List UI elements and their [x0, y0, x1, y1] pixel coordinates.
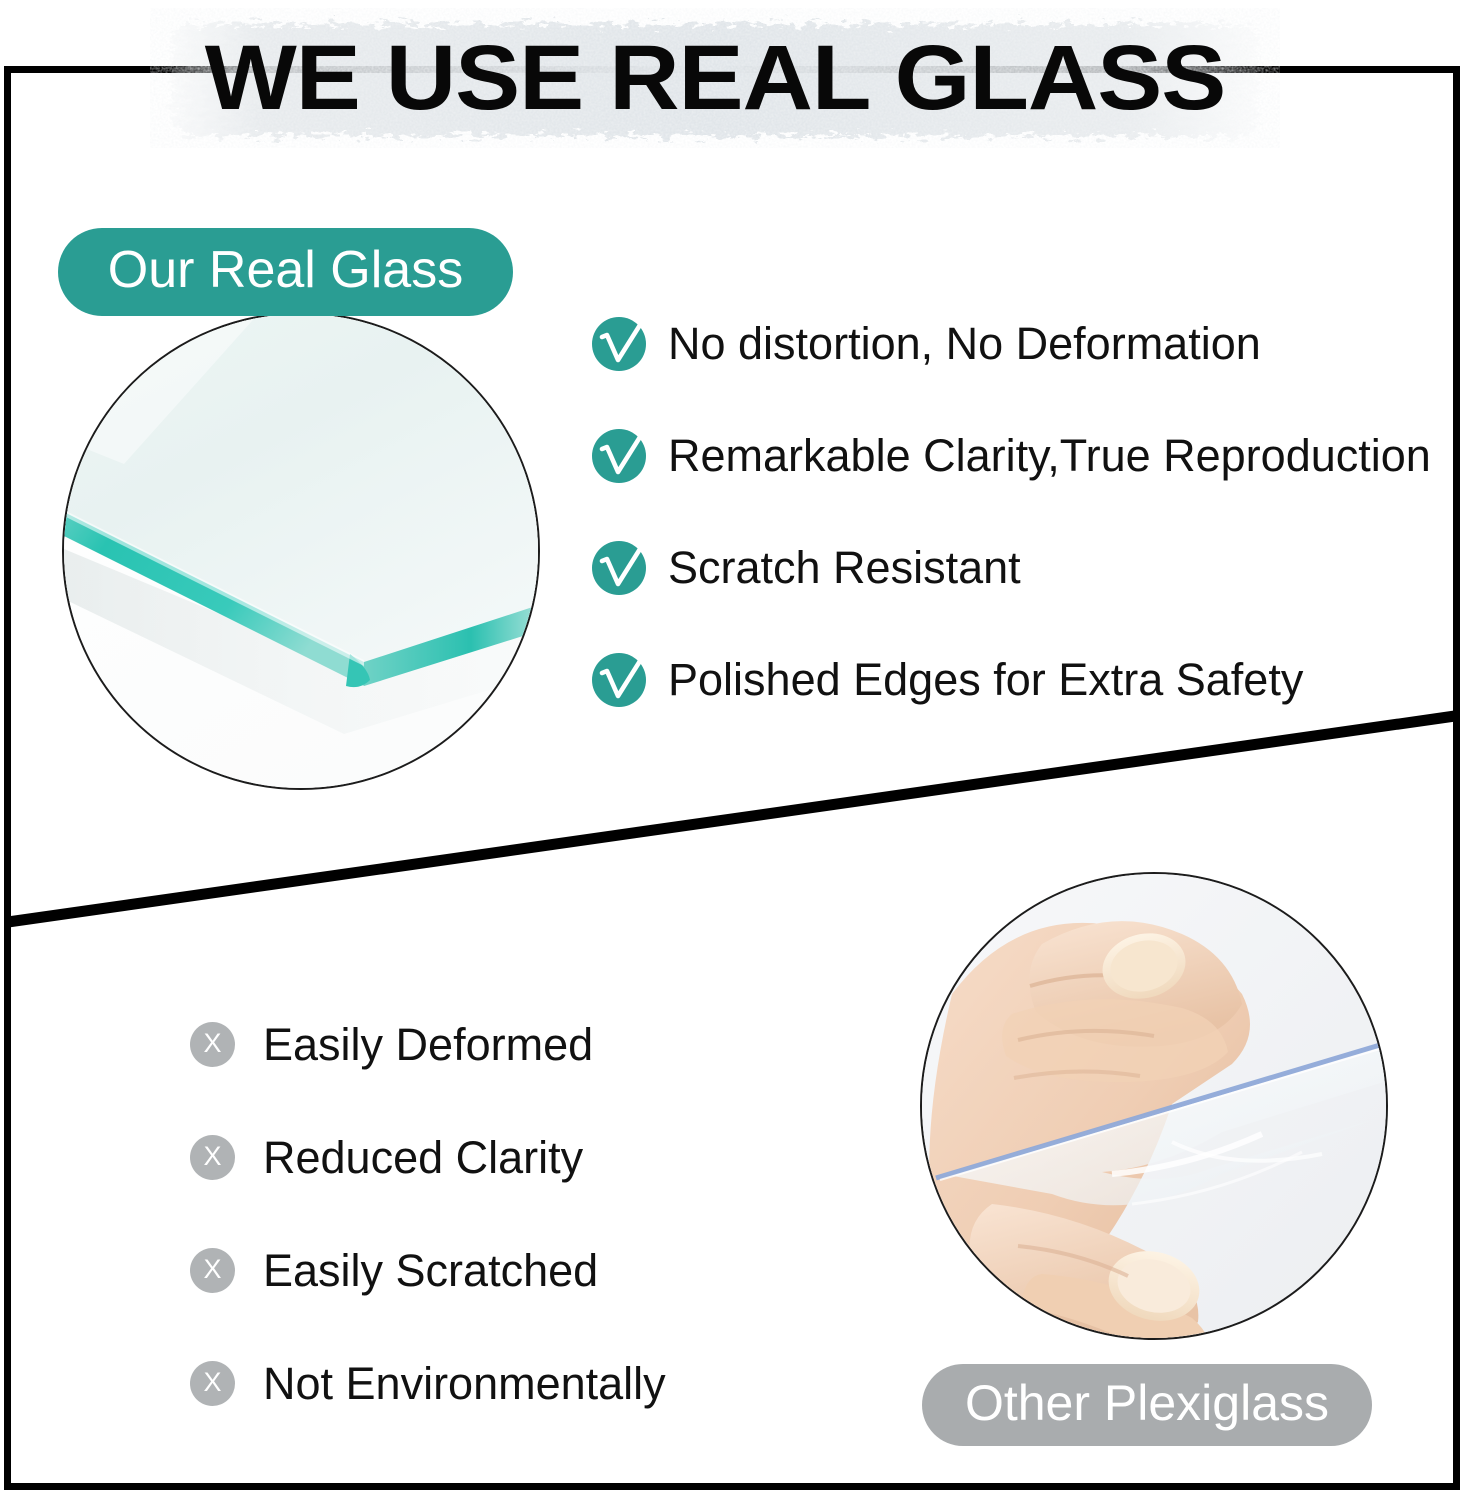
drawback-label: Reduced Clarity — [263, 1132, 583, 1184]
check-circle-icon — [592, 653, 646, 707]
drawback-item: X Easily Deformed — [190, 988, 666, 1101]
check-mark-glyph — [588, 307, 660, 379]
plexiglass-illustration — [922, 874, 1388, 1340]
x-circle-icon: X — [190, 1361, 235, 1406]
drawback-label: Not Environmentally — [263, 1358, 666, 1410]
benefit-label: Polished Edges for Extra Safety — [668, 654, 1303, 706]
benefit-item: Polished Edges for Extra Safety — [592, 624, 1431, 736]
check-circle-icon — [592, 429, 646, 483]
benefit-item: No distortion, No Deformation — [592, 288, 1431, 400]
benefit-label: Scratch Resistant — [668, 542, 1021, 594]
x-glyph: X — [203, 1030, 221, 1057]
x-glyph: X — [203, 1256, 221, 1283]
real-glass-photo — [62, 312, 540, 790]
drawbacks-list: X Easily Deformed X Reduced Clarity X Ea… — [190, 988, 666, 1440]
plexiglass-photo — [920, 872, 1388, 1340]
drawback-label: Easily Scratched — [263, 1245, 598, 1297]
x-circle-icon: X — [190, 1248, 235, 1293]
x-glyph: X — [203, 1369, 221, 1396]
drawback-item: X Not Environmentally — [190, 1327, 666, 1440]
other-plexiglass-badge-label: Other Plexiglass — [965, 1374, 1329, 1432]
benefit-label: No distortion, No Deformation — [668, 318, 1261, 370]
real-glass-illustration — [64, 314, 540, 790]
x-circle-icon: X — [190, 1022, 235, 1067]
drawback-item: X Easily Scratched — [190, 1214, 666, 1327]
check-circle-icon — [592, 541, 646, 595]
page-title: WE USE REAL GLASS — [116, 8, 1314, 148]
page-title-band: WE USE REAL GLASS — [150, 8, 1280, 148]
check-mark-glyph — [588, 643, 660, 715]
benefit-label: Remarkable Clarity,True Reproduction — [668, 430, 1431, 482]
benefits-list: No distortion, No Deformation Remarkable… — [592, 288, 1431, 736]
benefit-item: Remarkable Clarity,True Reproduction — [592, 400, 1431, 512]
drawback-label: Easily Deformed — [263, 1019, 593, 1071]
check-circle-icon — [592, 317, 646, 371]
our-real-glass-badge: Our Real Glass — [58, 228, 513, 316]
drawback-item: X Reduced Clarity — [190, 1101, 666, 1214]
x-glyph: X — [203, 1143, 221, 1170]
check-mark-glyph — [588, 531, 660, 603]
check-mark-glyph — [588, 419, 660, 491]
x-circle-icon: X — [190, 1135, 235, 1180]
our-real-glass-badge-label: Our Real Glass — [108, 240, 463, 300]
benefit-item: Scratch Resistant — [592, 512, 1431, 624]
other-plexiglass-badge: Other Plexiglass — [922, 1364, 1372, 1446]
